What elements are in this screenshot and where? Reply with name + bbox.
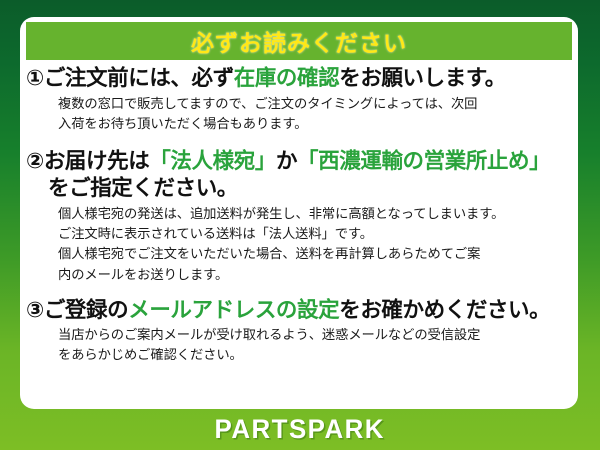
notice-item-2-marker: ② — [26, 149, 44, 174]
notice-item-3-heading-post: をお確かめください。 — [339, 298, 550, 323]
notice-item-3-body: 当店からのご案内メールが受け取れるよう、迷惑メールなどの受信設定 をあらかじめご… — [26, 324, 572, 366]
notice-item-2: ②お届け先は「法人様宛」か「西濃運輸の営業所止め」 をご指定ください。 個人様宅… — [26, 148, 572, 286]
spacer — [26, 137, 572, 148]
notice-items: ①ご注文前には、必ず在庫の確認をお願いします。 複数の窓口で販売してますので、ご… — [26, 65, 572, 369]
notice-item-1: ①ご注文前には、必ず在庫の確認をお願いします。 複数の窓口で販売してますので、ご… — [26, 65, 572, 135]
spacer — [26, 288, 572, 297]
notice-item-3-marker: ③ — [26, 298, 44, 323]
notice-item-2-heading-cont: をご指定ください。 — [26, 175, 572, 203]
notice-item-3: ③ご登録のメールアドレスの設定をお確かめください。 当店からのご案内メールが受け… — [26, 297, 572, 367]
notice-banner: 必ずお読みください ①ご注文前には、必ず在庫の確認をお願いします。 複数の窓口で… — [0, 0, 600, 450]
footer-bar: PARTSPARK — [0, 409, 600, 450]
notice-item-2-heading-mid: か — [276, 149, 297, 174]
notice-item-1-heading: ①ご注文前には、必ず在庫の確認をお願いします。 — [26, 65, 572, 93]
notice-item-1-heading-highlight: 在庫の確認 — [234, 66, 340, 91]
title-bar: 必ずお読みください — [26, 22, 572, 60]
notice-item-1-heading-pre: ご注文前には、必ず — [44, 66, 234, 91]
white-panel: 必ずお読みください ①ご注文前には、必ず在庫の確認をお願いします。 複数の窓口で… — [20, 17, 578, 409]
notice-item-2-body: 個人様宅宛の発送は、追加送料が発生し、非常に高額となってしまいます。 ご注文時に… — [26, 203, 572, 286]
page-title: 必ずお読みください — [191, 24, 407, 58]
notice-item-2-heading-pre: お届け先は — [44, 149, 150, 174]
notice-item-2-heading-highlight: 「法人様宛」 — [149, 149, 276, 174]
notice-item-2-heading-highlight2: 「西濃運輸の営業所止め」 — [297, 149, 550, 174]
notice-item-3-heading: ③ご登録のメールアドレスの設定をお確かめください。 — [26, 297, 572, 325]
notice-item-2-heading: ②お届け先は「法人様宛」か「西濃運輸の営業所止め」 — [26, 148, 572, 176]
notice-item-1-heading-post: をお願いします。 — [339, 66, 506, 91]
brand-logo-partspark: PARTSPARK — [215, 414, 385, 445]
notice-item-3-heading-pre: ご登録の — [44, 298, 128, 323]
notice-item-1-body: 複数の窓口で販売してますので、ご注文のタイミングによっては、次回 入荷をお待ち頂… — [26, 93, 572, 135]
notice-item-1-marker: ① — [26, 66, 44, 91]
notice-item-3-heading-highlight: メールアドレスの設定 — [128, 298, 339, 323]
